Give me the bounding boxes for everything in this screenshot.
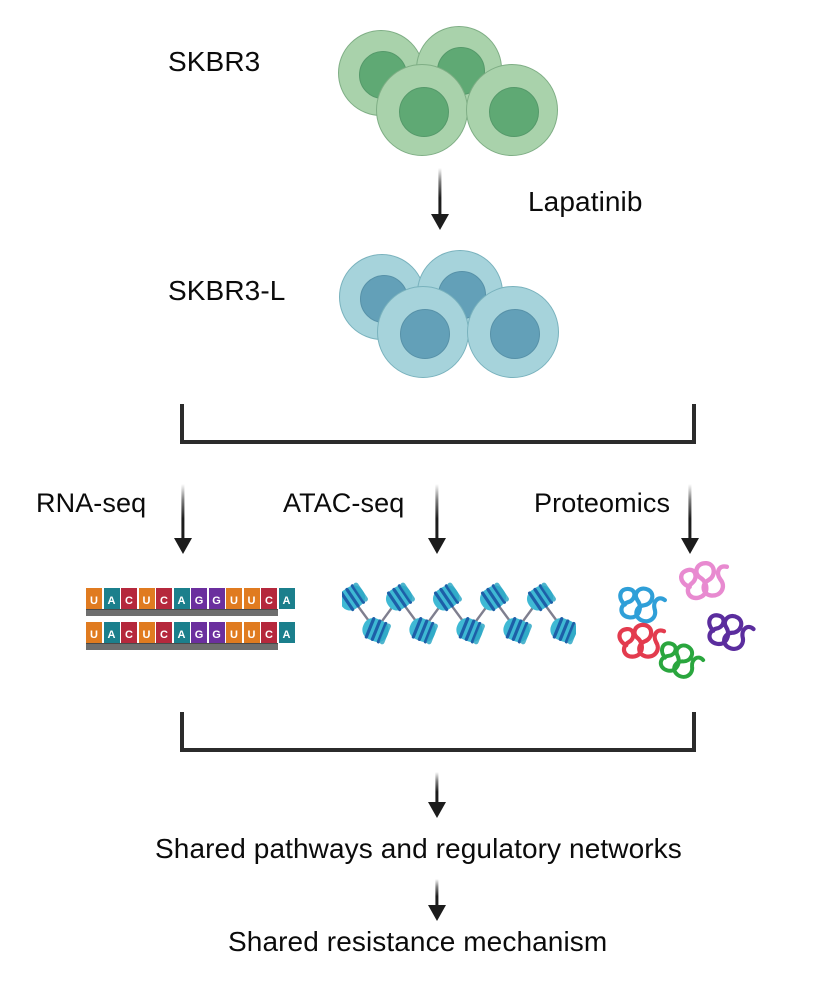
rna-strand-icon: UACUCAGGUUCA UACUCAGGUUCA (86, 588, 286, 660)
rna-base: C (156, 588, 172, 609)
rna-base: C (156, 622, 172, 643)
rna-base: A (104, 588, 120, 609)
rna-base: U (86, 622, 102, 643)
nucleosome (523, 581, 557, 615)
rna-base: U (244, 622, 260, 643)
rna-base: U (226, 622, 242, 643)
nucleosome (500, 614, 533, 645)
rna-base: G (191, 588, 207, 609)
arrow-to-pathways (426, 772, 448, 818)
rna-base: A (174, 588, 190, 609)
nucleosome (406, 614, 439, 645)
cell-parental-4 (466, 64, 558, 156)
protein-blue (617, 585, 666, 623)
arrow-lapatinib-treatment (429, 168, 451, 230)
nucleosome (359, 614, 392, 645)
rna-base: G (209, 588, 225, 609)
rna-base: A (174, 622, 190, 643)
bracket-assay-converge (180, 712, 696, 752)
rna-base: G (191, 622, 207, 643)
nucleosome (453, 614, 486, 645)
cell-cluster-parental (330, 22, 570, 152)
rna-base: U (244, 588, 260, 609)
rna-base: A (279, 588, 295, 609)
conclusion-pathways: Shared pathways and regulatory networks (155, 835, 682, 863)
rna-base: G (209, 622, 225, 643)
nucleosome (429, 581, 463, 615)
bracket-assay-split (180, 404, 696, 444)
protein-green (656, 639, 706, 680)
rna-base: U (86, 588, 102, 609)
arrow-to-mechanism (426, 879, 448, 921)
assay-label-atac-seq: ATAC-seq (283, 490, 404, 517)
nucleosome (476, 581, 510, 615)
nucleosome (382, 581, 416, 615)
cell-resistant-4 (467, 286, 559, 378)
rna-base: A (279, 622, 295, 643)
nucleosome (547, 614, 576, 645)
assay-label-proteomics: Proteomics (534, 490, 670, 517)
figure-canvas: SKBR3 Lapatinib SKBR3-L (0, 0, 840, 1008)
arrow-atac-seq (426, 484, 448, 554)
cell-line-label-resistant: SKBR3-L (168, 277, 285, 305)
cell-line-label-parental: SKBR3 (168, 48, 260, 76)
treatment-label: Lapatinib (528, 188, 643, 216)
assay-label-rna-seq: RNA-seq (36, 490, 146, 517)
rna-base: C (261, 622, 277, 643)
protein-tangle-icon (616, 560, 796, 680)
rna-base: C (261, 588, 277, 609)
arrow-rna-seq (172, 484, 194, 554)
nucleosome-chain-icon (342, 572, 576, 664)
rna-base: U (139, 588, 155, 609)
cell-resistant-3 (377, 286, 469, 378)
rna-base: A (104, 622, 120, 643)
nucleosome (342, 581, 369, 615)
protein-pink (679, 560, 733, 602)
rna-base: U (226, 588, 242, 609)
rna-base: U (139, 622, 155, 643)
protein-purple (705, 611, 756, 652)
cell-cluster-resistant (333, 248, 573, 374)
arrow-proteomics (679, 484, 701, 554)
rna-base: C (121, 588, 137, 609)
conclusion-mechanism: Shared resistance mechanism (228, 928, 607, 956)
rna-base: C (121, 622, 137, 643)
cell-parental-3 (376, 64, 468, 156)
protein-red (619, 623, 667, 660)
